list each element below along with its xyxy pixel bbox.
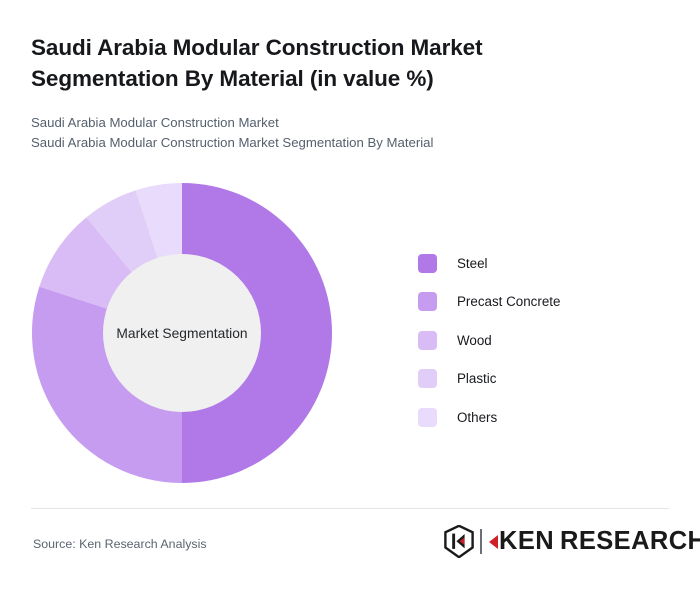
legend-label: Plastic xyxy=(457,371,496,386)
donut-chart-svg xyxy=(32,183,332,483)
ken-research-shield-icon xyxy=(444,525,474,558)
legend-item[interactable]: Precast Concrete xyxy=(418,283,658,322)
page-title: Saudi Arabia Modular Construction Market… xyxy=(31,32,631,94)
source-note: Source: Ken Research Analysis xyxy=(33,537,207,551)
legend-swatch xyxy=(418,369,437,388)
legend-swatch xyxy=(418,254,437,273)
legend-label: Precast Concrete xyxy=(457,294,560,309)
chart-legend: SteelPrecast ConcreteWoodPlasticOthers xyxy=(418,244,658,437)
legend-label: Steel xyxy=(457,256,488,271)
ken-research-logo: KEN RESEARCH xyxy=(444,524,700,558)
legend-swatch xyxy=(418,408,437,427)
logo-divider xyxy=(480,529,482,554)
chart-card: Saudi Arabia Modular Construction Market… xyxy=(0,0,700,591)
brand-wordmark: KEN RESEARCH xyxy=(489,527,700,556)
donut-chart: Market Segmentation xyxy=(32,183,332,483)
legend-swatch xyxy=(418,331,437,350)
logo-triangle-icon xyxy=(489,535,498,549)
brand-word-research: RESEARCH xyxy=(560,527,700,556)
brand-word-ken: KEN xyxy=(499,527,554,556)
legend-item[interactable]: Steel xyxy=(418,244,658,283)
chart-subtitle-secondary: Saudi Arabia Modular Construction Market… xyxy=(31,133,433,152)
chart-subtitle-primary: Saudi Arabia Modular Construction Market xyxy=(31,113,279,132)
legend-label: Wood xyxy=(457,333,492,348)
legend-item[interactable]: Wood xyxy=(418,321,658,360)
legend-item[interactable]: Others xyxy=(418,398,658,437)
legend-swatch xyxy=(418,292,437,311)
footer-divider xyxy=(31,508,669,509)
legend-item[interactable]: Plastic xyxy=(418,360,658,399)
legend-label: Others xyxy=(457,410,497,425)
donut-hole xyxy=(103,254,261,412)
